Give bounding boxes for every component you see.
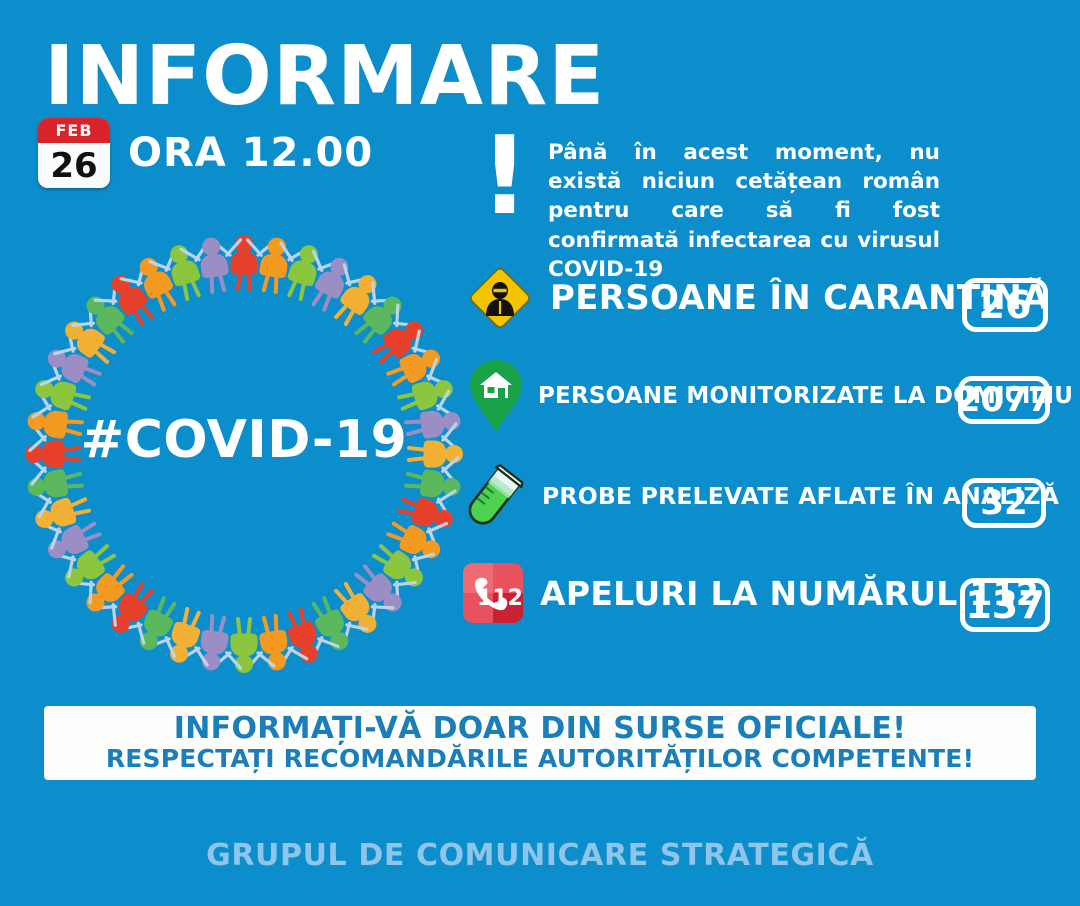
stat-row-emergency-calls: 112 APELURI LA NUMĂRUL 112 <box>460 560 1039 626</box>
footer-organization: GRUPUL DE COMUNICARE STRATEGICĂ <box>0 838 1080 873</box>
calendar-month: FEB <box>38 118 110 143</box>
hashtag-covid: #COVID-19 <box>18 410 470 470</box>
date-time-bar: FEB 26 ORA 12.00 <box>38 118 373 188</box>
stat-value-samples: 32 <box>962 478 1046 528</box>
banner-line-1: INFORMAȚI-VĂ DOAR DIN SURSE OFICIALE! <box>174 712 906 746</box>
stat-value-emergency-calls: 137 <box>960 578 1050 632</box>
test-tube-icon <box>462 462 526 530</box>
calendar-icon: FEB 26 <box>38 118 110 188</box>
exclamation-icon: ! <box>480 132 508 242</box>
stat-value-quarantine: 26 <box>962 278 1048 332</box>
official-sources-banner: INFORMAȚI-VĂ DOAR DIN SURSE OFICIALE! RE… <box>44 706 1036 780</box>
page-title: INFORMARE <box>44 36 605 118</box>
svg-text:112: 112 <box>477 586 523 611</box>
banner-line-2: RESPECTAȚI RECOMANDĂRILE AUTORITĂȚILOR C… <box>106 745 974 774</box>
infographic-canvas: INFORMARE FEB 26 ORA 12.00 ! Până în ace… <box>0 0 1080 906</box>
quarantine-warning-sign-icon <box>466 264 534 332</box>
calendar-day: 26 <box>38 143 110 188</box>
notice-text: Până în acest moment, nu există niciun c… <box>548 138 940 284</box>
time-label: ORA 12.00 <box>128 130 373 176</box>
home-location-pin-icon <box>468 358 524 434</box>
emergency-phone-112-icon: 112 <box>460 560 526 626</box>
stat-value-home-monitored: 2077 <box>958 376 1050 424</box>
